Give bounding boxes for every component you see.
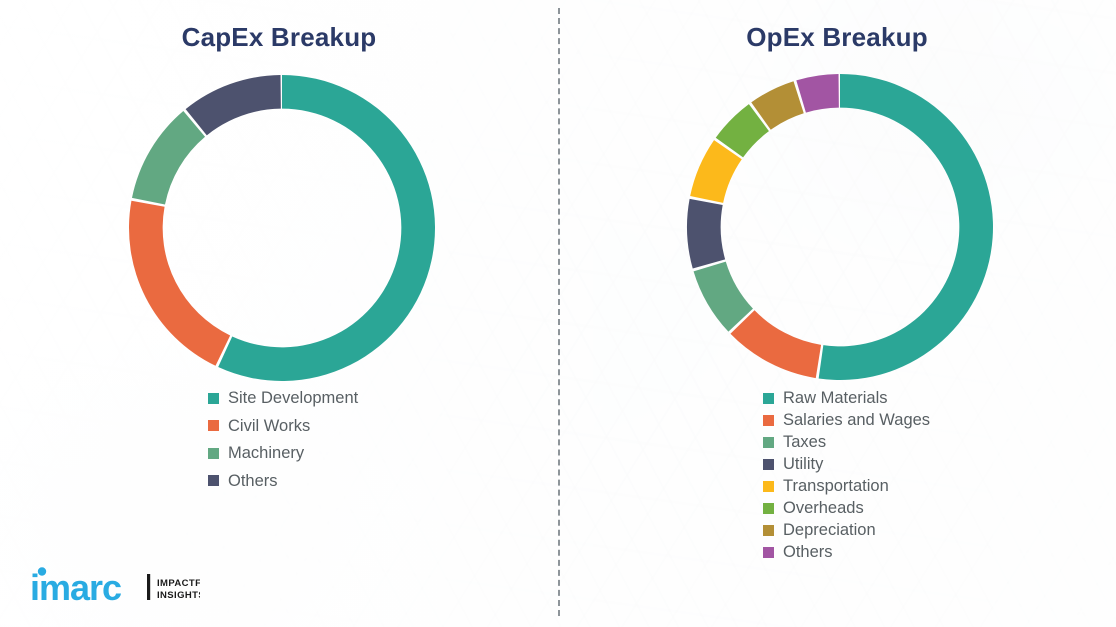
legend-swatch-icon bbox=[208, 393, 219, 404]
legend-item-label: Transportation bbox=[783, 478, 889, 495]
legend-item-label: Raw Materials bbox=[783, 390, 888, 407]
donut-slice-utility bbox=[687, 199, 725, 269]
legend-item-label: Others bbox=[783, 544, 833, 561]
legend-item-label: Civil Works bbox=[228, 418, 310, 435]
legend-item-label: Others bbox=[228, 473, 278, 490]
opex-chart-title: OpEx Breakup bbox=[558, 22, 1116, 53]
legend-swatch-icon bbox=[763, 437, 774, 448]
capex-donut-chart bbox=[128, 74, 436, 382]
capex-legend: Site DevelopmentCivil WorksMachineryOthe… bbox=[208, 390, 358, 500]
legend-item-label: Taxes bbox=[783, 434, 826, 451]
panel-divider bbox=[558, 8, 560, 616]
imarc-logo-svg: imarc IMPACTFUL INSIGHTS bbox=[30, 564, 200, 608]
donut-slice-raw-materials bbox=[819, 74, 993, 380]
opex-donut-svg bbox=[686, 73, 994, 381]
legend-swatch-icon bbox=[763, 415, 774, 426]
legend-item-label: Salaries and Wages bbox=[783, 412, 930, 429]
capex-panel: CapEx Breakup Site DevelopmentCivil Work… bbox=[0, 0, 558, 627]
legend-swatch-icon bbox=[763, 393, 774, 404]
logo-separator-bar bbox=[147, 574, 150, 600]
donut-slice-site-development bbox=[218, 75, 435, 381]
legend-swatch-icon bbox=[763, 481, 774, 492]
capex-legend-item[interactable]: Others bbox=[208, 473, 358, 490]
donut-slice-civil-works bbox=[129, 201, 230, 366]
opex-legend-item[interactable]: Transportation bbox=[763, 478, 930, 495]
logo-tagline-line2: INSIGHTS bbox=[157, 590, 200, 601]
logo-tagline-line1: IMPACTFUL bbox=[157, 578, 200, 589]
opex-legend-item[interactable]: Others bbox=[763, 544, 930, 561]
imarc-logo[interactable]: imarc IMPACTFUL INSIGHTS bbox=[30, 565, 200, 607]
legend-item-label: Site Development bbox=[228, 390, 358, 407]
legend-swatch-icon bbox=[763, 503, 774, 514]
legend-item-label: Machinery bbox=[228, 445, 304, 462]
donut-slice-machinery bbox=[132, 111, 205, 204]
donut-slice-others bbox=[186, 75, 281, 135]
donut-slice-others bbox=[796, 74, 839, 113]
opex-legend-item[interactable]: Raw Materials bbox=[763, 390, 930, 407]
legend-item-label: Overheads bbox=[783, 500, 864, 517]
opex-legend-item[interactable]: Depreciation bbox=[763, 522, 930, 539]
legend-swatch-icon bbox=[208, 475, 219, 486]
legend-swatch-icon bbox=[208, 420, 219, 431]
legend-swatch-icon bbox=[208, 448, 219, 459]
capex-donut-svg bbox=[128, 74, 436, 382]
legend-item-label: Utility bbox=[783, 456, 823, 473]
opex-legend-item[interactable]: Utility bbox=[763, 456, 930, 473]
capex-legend-item[interactable]: Site Development bbox=[208, 390, 358, 407]
legend-swatch-icon bbox=[763, 525, 774, 536]
legend-item-label: Depreciation bbox=[783, 522, 876, 539]
opex-legend-item[interactable]: Taxes bbox=[763, 434, 930, 451]
opex-legend: Raw MaterialsSalaries and WagesTaxesUtil… bbox=[763, 390, 930, 566]
opex-donut-chart bbox=[686, 73, 994, 381]
logo-wordmark: imarc bbox=[30, 567, 121, 608]
capex-chart-title: CapEx Breakup bbox=[0, 22, 558, 53]
donut-slice-salaries-and-wages bbox=[730, 310, 821, 378]
capex-legend-item[interactable]: Civil Works bbox=[208, 418, 358, 435]
legend-swatch-icon bbox=[763, 459, 774, 470]
opex-legend-item[interactable]: Salaries and Wages bbox=[763, 412, 930, 429]
capex-legend-item[interactable]: Machinery bbox=[208, 445, 358, 462]
opex-legend-item[interactable]: Overheads bbox=[763, 500, 930, 517]
legend-swatch-icon bbox=[763, 547, 774, 558]
